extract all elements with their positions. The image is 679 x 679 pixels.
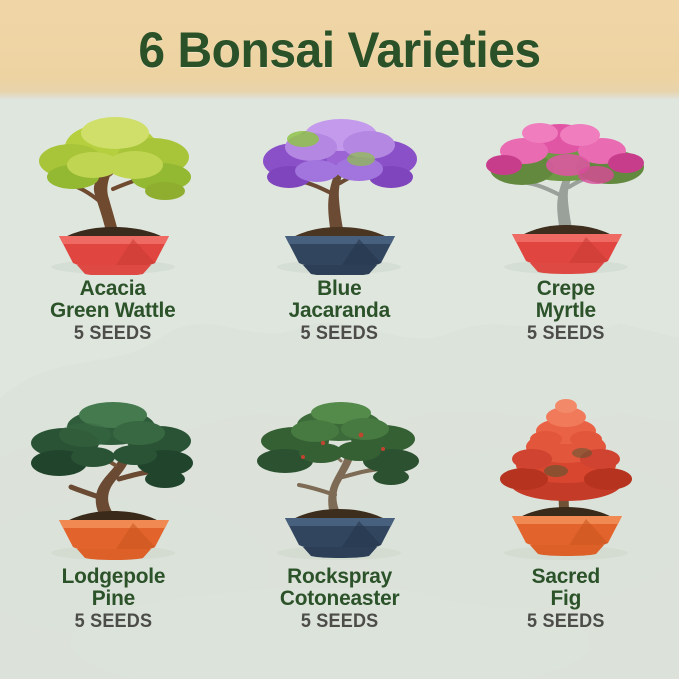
variety-name-line2: Myrtle <box>526 299 605 321</box>
variety-name-line1: Crepe <box>526 277 605 299</box>
variety-seed-count: 5 SEEDS <box>281 612 398 632</box>
variety-card-acacia-green-wattle[interactable]: Acacia Green Wattle 5 SEEDS <box>0 99 226 389</box>
variety-caption: Sacred Fig 5 SEEDS <box>525 565 607 632</box>
variety-name-line1: Blue <box>289 277 390 299</box>
bonsai-image-sacred-fig <box>468 391 664 563</box>
variety-name-line2: Pine <box>61 587 165 609</box>
variety-seed-count: 5 SEEDS <box>290 324 389 344</box>
variety-name-line1: Sacred <box>526 565 605 587</box>
variety-name-line1: Rockspray <box>280 565 400 587</box>
bonsai-image-rockspray-cotoneaster <box>241 391 437 563</box>
bonsai-image-lodgepole-pine <box>15 391 211 563</box>
variety-name-line1: Lodgepole <box>61 565 165 587</box>
bonsai-image-crepe-myrtle <box>468 103 664 275</box>
variety-seed-count: 5 SEEDS <box>527 612 605 632</box>
variety-caption: Crepe Myrtle 5 SEEDS <box>525 277 607 344</box>
variety-name-line1: Acacia <box>50 277 176 299</box>
variety-caption: Acacia Green Wattle 5 SEEDS <box>48 277 177 344</box>
variety-caption: Blue Jacaranda 5 SEEDS <box>287 277 392 344</box>
header-banner: 6 Bonsai Varieties <box>0 0 679 99</box>
bonsai-image-acacia-green-wattle <box>15 103 211 275</box>
variety-seed-count: 5 SEEDS <box>52 324 175 344</box>
variety-grid: Acacia Green Wattle 5 SEEDS <box>0 99 679 679</box>
product-infographic: 6 Bonsai Varieties <box>0 0 679 679</box>
variety-seed-count: 5 SEEDS <box>62 612 164 632</box>
variety-name-line2: Fig <box>526 587 605 609</box>
bonsai-image-blue-jacaranda <box>241 103 437 275</box>
variety-name-line2: Green Wattle <box>50 299 176 321</box>
page-title: 6 Bonsai Varieties <box>138 21 540 79</box>
variety-card-lodgepole-pine[interactable]: Lodgepole Pine 5 SEEDS <box>0 389 226 679</box>
variety-card-sacred-fig[interactable]: Sacred Fig 5 SEEDS <box>453 389 679 679</box>
variety-name-line2: Cotoneaster <box>280 587 400 609</box>
variety-caption: Lodgepole Pine 5 SEEDS <box>60 565 167 632</box>
variety-card-rockspray-cotoneaster[interactable]: Rockspray Cotoneaster 5 SEEDS <box>226 389 452 679</box>
variety-name-line2: Jacaranda <box>289 299 390 321</box>
variety-card-blue-jacaranda[interactable]: Blue Jacaranda 5 SEEDS <box>226 99 452 389</box>
variety-card-crepe-myrtle[interactable]: Crepe Myrtle 5 SEEDS <box>453 99 679 389</box>
variety-seed-count: 5 SEEDS <box>527 324 605 344</box>
variety-caption: Rockspray Cotoneaster 5 SEEDS <box>278 565 401 632</box>
